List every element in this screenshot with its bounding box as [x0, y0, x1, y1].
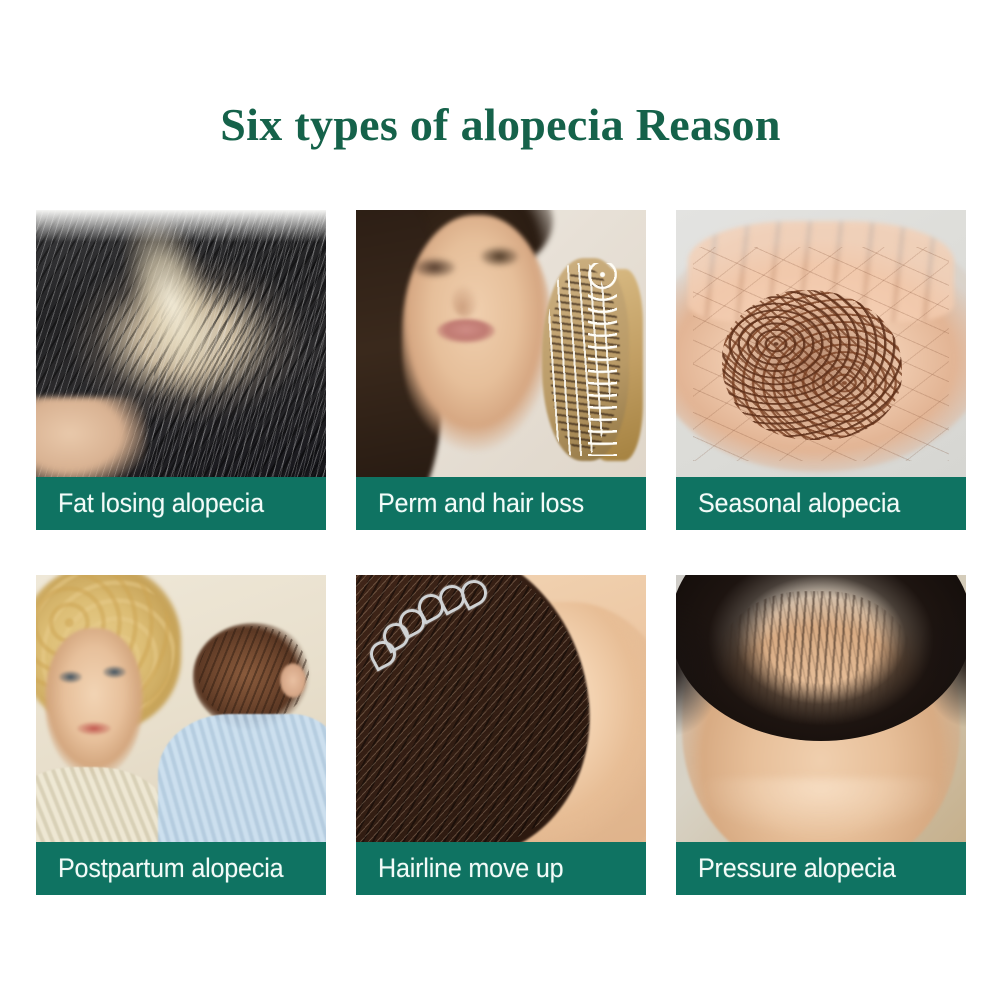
caption-bar-postpartum: Postpartum alopecia — [36, 842, 326, 895]
alopecia-card-seasonal[interactable]: Seasonal alopecia — [676, 210, 966, 530]
caption-label: Hairline move up — [378, 853, 563, 884]
photo-pressure-alopecia — [676, 575, 966, 842]
caption-bar-seasonal: Seasonal alopecia — [676, 477, 966, 530]
alopecia-card-perm[interactable]: Perm and hair loss — [356, 210, 646, 530]
caption-bar-perm: Perm and hair loss — [356, 477, 646, 530]
palm-with-fallen-hair-illustration — [676, 210, 966, 477]
hair-clip-group — [362, 580, 495, 697]
caption-bar-hairline: Hairline move up — [356, 842, 646, 895]
woman-with-hairbrush-illustration — [356, 210, 646, 477]
alopecia-card-postpartum[interactable]: Postpartum alopecia — [36, 575, 326, 895]
mother-and-baby-illustration — [36, 575, 326, 842]
photo-postpartum-alopecia — [36, 575, 326, 842]
alopecia-card-fat-losing[interactable]: Fat losing alopecia — [36, 210, 326, 530]
caption-bar-fat-losing: Fat losing alopecia — [36, 477, 326, 530]
caption-label: Perm and hair loss — [378, 488, 584, 519]
alopecia-type-grid: Fat losing alopecia — [36, 210, 966, 895]
photo-perm-and-hair-loss — [356, 210, 646, 477]
page-title: Six types of alopecia Reason — [0, 98, 1001, 151]
photo-fat-losing-alopecia — [36, 210, 326, 477]
alopecia-card-hairline[interactable]: Hairline move up — [356, 575, 646, 895]
photo-hairline-move-up — [356, 575, 646, 842]
alopecia-infographic-poster: Six types of alopecia Reason Fat losing … — [0, 0, 1001, 1001]
caption-bar-pressure: Pressure alopecia — [676, 842, 966, 895]
scalp-parting-illustration — [36, 210, 326, 477]
caption-label: Pressure alopecia — [698, 853, 896, 884]
caption-label: Fat losing alopecia — [58, 488, 264, 519]
balding-crown-illustration — [676, 575, 966, 842]
alopecia-card-pressure[interactable]: Pressure alopecia — [676, 575, 966, 895]
caption-label: Postpartum alopecia — [58, 853, 283, 884]
receding-hairline-illustration — [356, 575, 646, 842]
caption-label: Seasonal alopecia — [698, 488, 900, 519]
photo-seasonal-alopecia — [676, 210, 966, 477]
